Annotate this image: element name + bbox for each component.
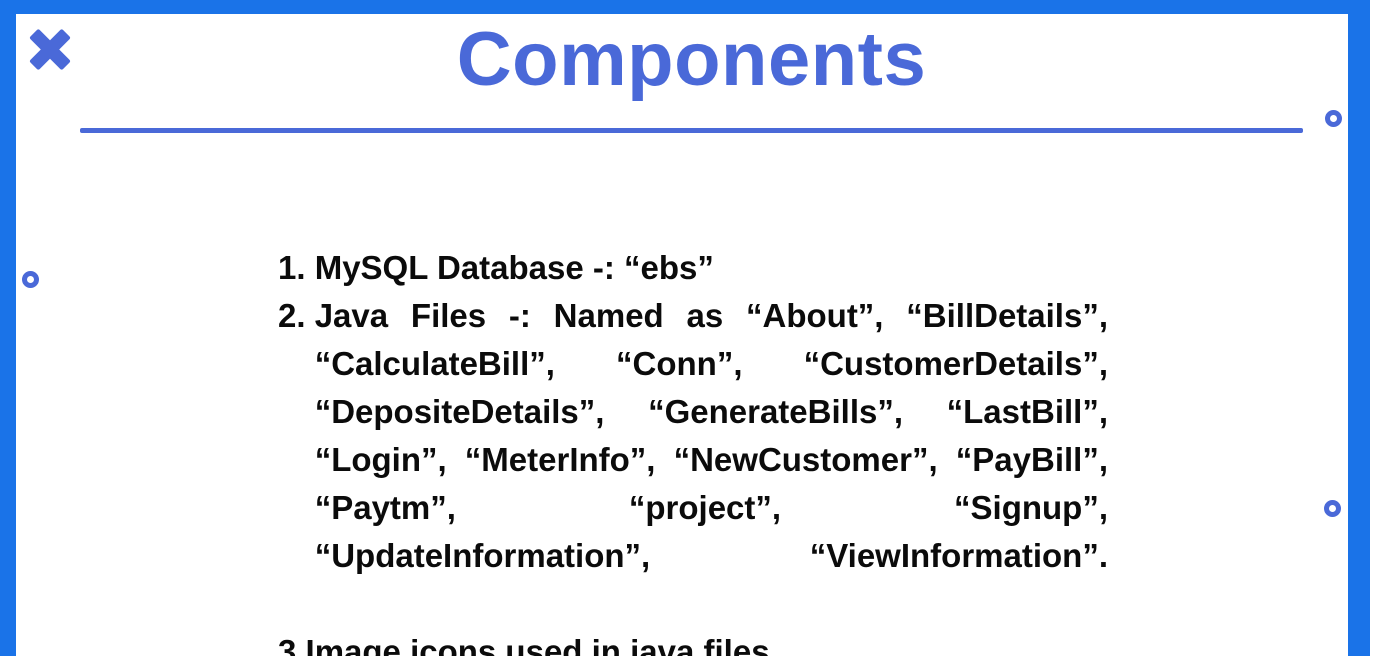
close-cross-icon [25,25,74,74]
slide-border-top [0,0,1370,14]
list-item-text: Java Files -: Named as “About”, “BillDet… [315,292,1108,628]
list-item: 2. Java Files -: Named as “About”, “Bill… [278,292,1108,628]
decorative-ring-icon-left [22,271,39,288]
list-item-marker: 2. [278,292,315,340]
presentation-slide: Components 1. MySQL Database -: “ebs” 2.… [0,0,1380,656]
slide-border-right [1348,0,1370,656]
list-item-marker: 3. [278,628,306,656]
components-list: 1. MySQL Database -: “ebs” 2. Java Files… [278,244,1108,656]
list-item-marker: 1. [278,244,315,292]
list-item: 3. Image icons used in java files. [278,628,1108,656]
list-item: 1. MySQL Database -: “ebs” [278,244,1108,292]
decorative-ring-icon-top-right [1325,110,1342,127]
slide-border-left [0,0,16,656]
list-item-text: Image icons used in java files. [306,628,1108,656]
decorative-ring-icon-bottom-right [1324,500,1341,517]
title-underline-rule [80,128,1303,133]
slide-title: Components [80,18,1303,102]
list-item-text: MySQL Database -: “ebs” [315,244,1108,292]
